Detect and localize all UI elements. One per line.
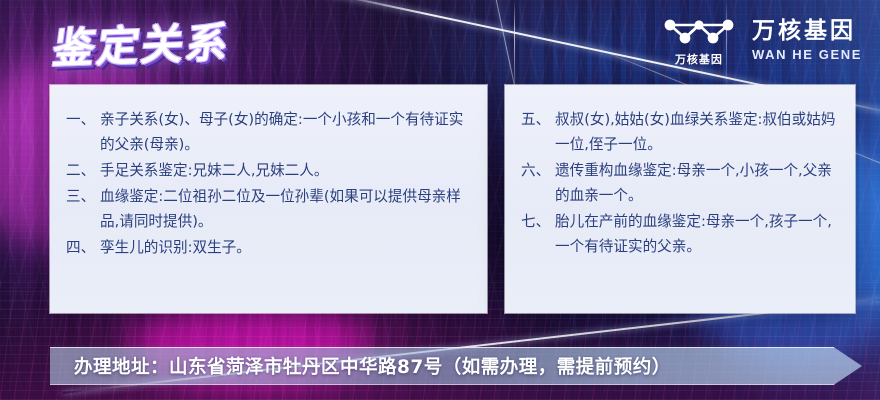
list-item-text: 胎儿在产前的血缘鉴定:母亲一个,孩子一个,一个有待证实的父亲。	[555, 209, 841, 259]
address-banner: 办理地址：山东省菏泽市牡丹区中华路87号（如需办理，需提前预约）	[50, 347, 862, 385]
list-item: 六、 遗传重构血缘鉴定:母亲一个,小孩一个,父亲的血亲一个。	[521, 158, 841, 208]
brand-lockup: 万核基因 万核基因 WAN HE GENE	[660, 14, 862, 67]
right-item-list: 五、 叔叔(女),姑姑(女)血绿关系鉴定:叔伯或姑妈一位,侄子一位。 六、 遗传…	[521, 107, 841, 259]
list-item-number: 一、	[66, 107, 100, 157]
list-item-text: 亲子关系(女)、母子(女)的确定:一个小孩和一个有待证实的父亲(母亲)。	[100, 107, 473, 157]
brand-name-cn: 万核基因	[752, 19, 856, 44]
list-item-number: 四、	[66, 235, 100, 260]
list-item: 四、 孪生儿的识别:双生子。	[66, 235, 473, 260]
list-item-text: 遗传重构血缘鉴定:母亲一个,小孩一个,父亲的血亲一个。	[555, 158, 841, 208]
list-item-text: 血缘鉴定:二位祖孙二位及一位孙辈(如果可以提供母亲样品,请同时提供)。	[100, 184, 473, 234]
brand-logo-label: 万核基因	[675, 51, 723, 67]
brand-logo: 万核基因	[660, 14, 738, 67]
list-item-number: 二、	[66, 158, 100, 183]
list-item-text: 叔叔(女),姑姑(女)血绿关系鉴定:叔伯或姑妈一位,侄子一位。	[555, 107, 841, 157]
address-text: 办理地址：山东省菏泽市牡丹区中华路87号（如需办理，需提前预约）	[50, 347, 862, 385]
list-item: 一、 亲子关系(女)、母子(女)的确定:一个小孩和一个有待证实的父亲(母亲)。	[66, 107, 473, 157]
list-item: 七、 胎儿在产前的血缘鉴定:母亲一个,孩子一个,一个有待证实的父亲。	[521, 209, 841, 259]
list-item-text: 手足关系鉴定:兄妹二人,兄妹二人。	[100, 158, 473, 183]
list-item-number: 三、	[66, 184, 100, 234]
poster-canvas: 鉴定关系	[0, 0, 880, 400]
vertical-light-line-1	[514, 0, 515, 92]
right-content-panel: 五、 叔叔(女),姑姑(女)血绿关系鉴定:叔伯或姑妈一位,侄子一位。 六、 遗传…	[505, 85, 855, 313]
list-item: 五、 叔叔(女),姑姑(女)血绿关系鉴定:叔伯或姑妈一位,侄子一位。	[521, 107, 841, 157]
brand-name-block: 万核基因 WAN HE GENE	[752, 19, 862, 61]
list-item-number: 七、	[521, 209, 555, 259]
brand-name-en: WAN HE GENE	[752, 47, 862, 62]
left-item-list: 一、 亲子关系(女)、母子(女)的确定:一个小孩和一个有待证实的父亲(母亲)。 …	[66, 107, 473, 260]
list-item-number: 六、	[521, 158, 555, 208]
list-item-text: 孪生儿的识别:双生子。	[100, 235, 473, 260]
dna-molecule-icon	[663, 14, 735, 48]
page-title: 鉴定关系	[49, 9, 235, 76]
list-item-number: 五、	[521, 107, 555, 157]
left-content-panel: 一、 亲子关系(女)、母子(女)的确定:一个小孩和一个有待证实的父亲(母亲)。 …	[50, 85, 487, 313]
list-item: 二、 手足关系鉴定:兄妹二人,兄妹二人。	[66, 158, 473, 183]
list-item: 三、 血缘鉴定:二位祖孙二位及一位孙辈(如果可以提供母亲样品,请同时提供)。	[66, 184, 473, 234]
